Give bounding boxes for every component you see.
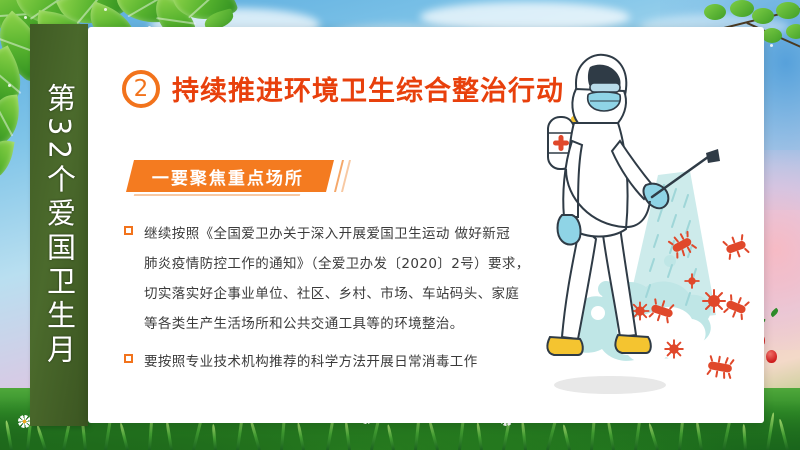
vertical-title-text: 第32个爱国卫生月: [45, 83, 74, 368]
bullet-paragraph: 继续按照《全国爱卫办关于深入开展爱国卫生运动 做好新冠 肺炎疫情防控工作的通知》…: [144, 219, 530, 339]
bullet-line: 肺炎疫情防控工作的通知》（全爱卫办发〔2020〕2号）要求，: [144, 249, 530, 279]
bullet-item: 继续按照《全国爱卫办关于深入开展爱国卫生运动 做好新冠 肺炎疫情防控工作的通知》…: [124, 219, 564, 339]
bullet-line: 切实落实好企事业单位、社区、乡村、市场、车站码头、家庭: [144, 279, 530, 309]
square-bullet-icon: [124, 226, 133, 235]
vertical-title-sidebar: 第32个爱国卫生月: [30, 24, 88, 426]
bullet-line: 继续按照《全国爱卫办关于深入开展爱国卫生运动 做好新冠: [144, 219, 530, 249]
subsection-banner: 一要聚焦重点场所: [130, 160, 347, 192]
bullet-line: 要按照专业技术机构推荐的科学方法开展日常消毒工作: [144, 347, 478, 377]
square-bullet-icon: [124, 354, 133, 363]
ground-shadow: [554, 376, 666, 394]
bullet-line: 等各类生产生活场所和公共交通工具等的环境整治。: [144, 309, 530, 339]
bullet-paragraph: 要按照专业技术机构推荐的科学方法开展日常消毒工作: [144, 347, 478, 377]
bullet-item: 要按照专业技术机构推荐的科学方法开展日常消毒工作: [124, 347, 564, 377]
banner-underline-stripe: [134, 194, 300, 196]
glove-left: [558, 215, 581, 244]
page-title: 持续推进环境卫生综合整治行动: [172, 69, 564, 108]
banner-label: 一要聚焦重点场所: [152, 164, 304, 189]
spray-nozzle: [706, 149, 720, 163]
slide-canvas: 第32个爱国卫生月 2 持续推进环境卫生综合整治行动 一要聚焦重点场所 继续按照…: [0, 0, 800, 450]
body-content: 继续按照《全国爱卫办关于深入开展爱国卫生运动 做好新冠 肺炎疫情防控工作的通知》…: [124, 219, 564, 385]
section-number-badge: 2: [122, 70, 160, 108]
content-card: 2 持续推进环境卫生综合整治行动 一要聚焦重点场所 继续按照《全国爱卫办关于深入…: [88, 27, 764, 423]
heading-row: 2 持续推进环境卫生综合整治行动: [122, 69, 564, 108]
banner-body: 一要聚焦重点场所: [126, 160, 334, 192]
disinfection-worker-illustration: [540, 49, 764, 423]
